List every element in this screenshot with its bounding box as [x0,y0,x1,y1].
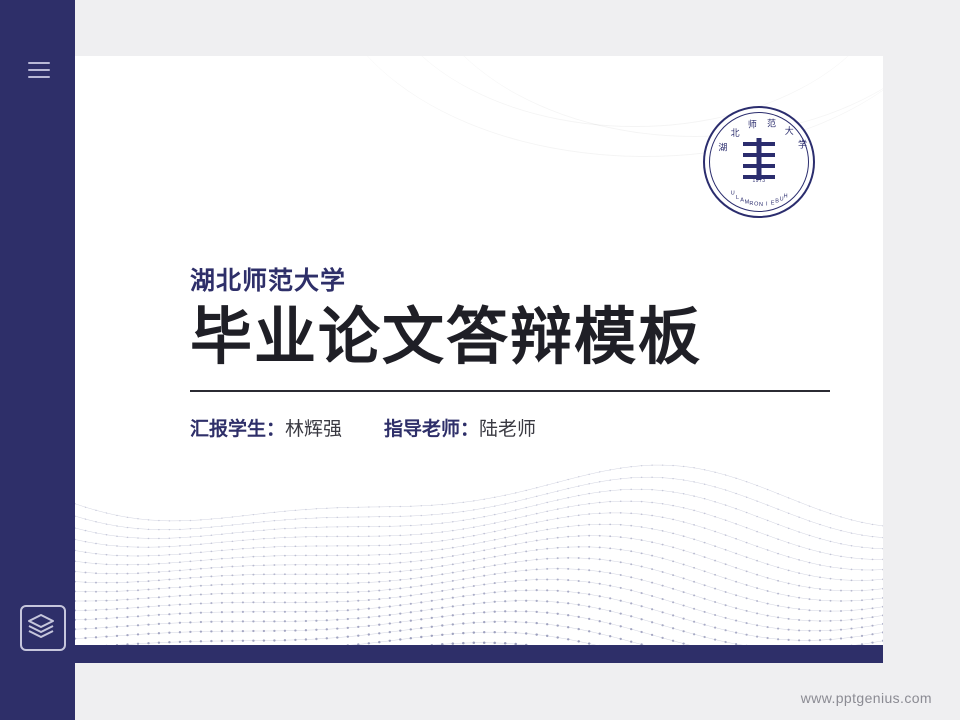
seal-english-name: H U B E I N O R M A L U [705,108,813,216]
hamburger-icon[interactable] [28,62,50,78]
slide-canvas: 1973 湖 北 师 范 大 学 H U B E I N O R M A L [0,0,960,720]
university-name: 湖北师范大学 [190,261,830,297]
student-name: 林辉强 [285,419,342,440]
layers-icon[interactable] [20,605,66,651]
title-block: 湖北师范大学 毕业论文答辩模板 汇报学生：林辉强指导老师：陆老师 [190,261,830,441]
page-title: 毕业论文答辩模板 [190,305,830,372]
university-seal-icon: 1973 湖 北 师 范 大 学 H U B E I N O R M A L [703,106,815,218]
advisor-label: 指导老师： [384,419,479,440]
hamburger-line [28,76,50,78]
title-divider [190,390,830,392]
slide-content: 1973 湖 北 师 范 大 学 H U B E I N O R M A L [75,56,883,663]
hamburger-line [28,62,50,64]
slide-bottom-bar [75,645,883,663]
hamburger-line [28,69,50,71]
footer-url: www.pptgenius.com [801,690,932,706]
dot-mesh-wave [75,453,883,663]
left-sidebar [0,0,75,720]
advisor-name: 陆老师 [479,419,536,440]
presenter-info: 汇报学生：林辉强指导老师：陆老师 [190,414,830,441]
student-label: 汇报学生： [190,419,285,440]
